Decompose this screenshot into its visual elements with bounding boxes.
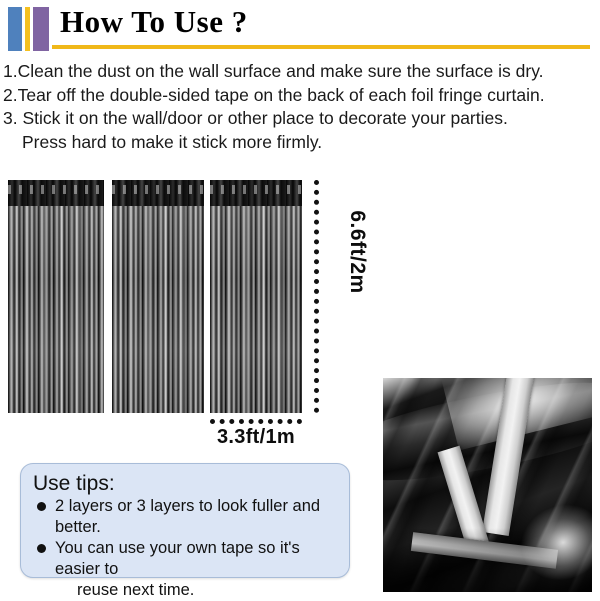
tip-text-1: 2 layers or 3 layers to look fuller and … (55, 496, 340, 538)
bullet-icon (37, 544, 46, 553)
tape-closeup-photo (383, 378, 592, 592)
use-tips-title: Use tips: (33, 471, 340, 496)
curtain-shine (112, 206, 204, 413)
instruction-step-3: 3. Stick it on the wall/door or other pl… (3, 107, 597, 131)
tip-list-item-1: 2 layers or 3 layers to look fuller and … (33, 496, 340, 538)
header-bar-purple (33, 7, 49, 51)
instruction-step-3-continued: Press hard to make it stick more firmly. (3, 131, 597, 155)
curtain-panel-image-3 (210, 180, 302, 413)
curtain-panel-image-1 (8, 180, 104, 413)
curtain-top-band (210, 180, 302, 206)
page-title: How To Use ? (60, 4, 248, 40)
tip-text-2-line-2: reuse next time. (55, 580, 340, 601)
curtain-band-perforations (112, 185, 204, 194)
curtain-band-perforations (210, 185, 302, 194)
curtain-shine (8, 206, 104, 413)
height-dimension-dotted-line (314, 180, 319, 413)
tip-text-2-line-1: You can use your own tape so it's easier… (55, 539, 300, 578)
tip-text-2: You can use your own tape so it's easier… (55, 538, 340, 601)
title-underline-rule (52, 45, 590, 49)
curtain-top-band (8, 180, 104, 206)
header-accent-bars (8, 7, 50, 51)
header-bar-yellow (25, 7, 30, 51)
curtain-band-perforations (8, 185, 104, 194)
instruction-step-1: 1.Clean the dust on the wall surface and… (3, 60, 597, 84)
header-bar-blue (8, 7, 22, 51)
instruction-step-2: 2.Tear off the double-sided tape on the … (3, 84, 597, 108)
height-dimension-label: 6.6ft/2m (345, 192, 369, 312)
tip-list-item-2: You can use your own tape so it's easier… (33, 538, 340, 601)
curtain-top-band (112, 180, 204, 206)
width-dimension-label: 3.3ft/1m (192, 426, 320, 449)
width-dimension-dotted-line (210, 419, 302, 424)
instruction-list: 1.Clean the dust on the wall surface and… (3, 60, 597, 154)
curtain-shine (210, 206, 302, 413)
curtain-panel-image-2 (112, 180, 204, 413)
use-tips-box: Use tips: 2 layers or 3 layers to look f… (20, 463, 350, 578)
bullet-icon (37, 502, 46, 511)
